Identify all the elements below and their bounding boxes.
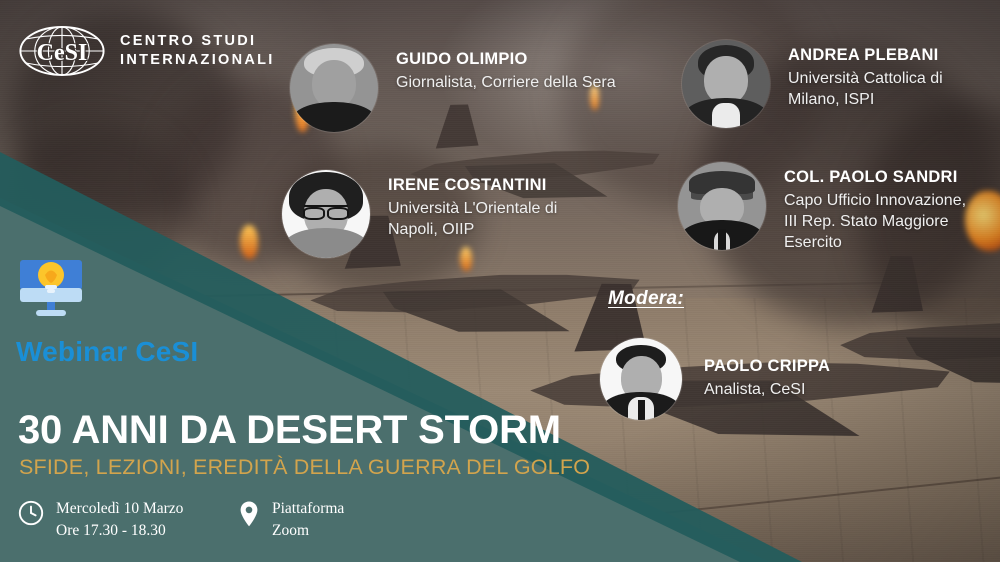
speaker-andrea-plebani: ANDREA PLEBANI Università Cattolica di M…: [682, 40, 943, 128]
speaker-name: COL. PAOLO SANDRI: [784, 168, 966, 187]
cesi-logo-wordmark: CeSI: [37, 40, 88, 66]
speaker-role-line: Università Cattolica di: [788, 69, 943, 90]
moderator-role: Analista, CeSI: [704, 380, 830, 401]
webinar-poster: CeSI CENTRO STUDI INTERNAZIONALI GUIDO O…: [0, 0, 1000, 562]
speaker-photo-guido-olimpio: [290, 44, 378, 132]
speaker-role-line: Esercito: [784, 233, 966, 254]
location-pin-icon: [238, 500, 260, 528]
event-date: Mercoledì 10 Marzo: [56, 498, 183, 520]
event-time: Ore 17.30 - 18.30: [56, 520, 183, 542]
event-platform-name: Zoom: [272, 520, 344, 542]
speaker-role-line: Capo Ufficio Innovazione,: [784, 191, 966, 212]
monitor-lightbulb-icon: [16, 258, 86, 320]
speaker-role: Giornalista, Corriere della Sera: [396, 73, 616, 94]
logo-organisation-name: CENTRO STUDI INTERNAZIONALI: [120, 32, 275, 70]
speaker-name: ANDREA PLEBANI: [788, 46, 943, 65]
event-title: 30 ANNI DA DESERT STORM: [18, 410, 561, 450]
speaker-guido-olimpio: GUIDO OLIMPIO Giornalista, Corriere dell…: [290, 44, 616, 132]
speaker-paolo-sandri: COL. PAOLO SANDRI Capo Ufficio Innovazio…: [678, 162, 966, 253]
speaker-photo-andrea-plebani: [682, 40, 770, 128]
speaker-photo-paolo-sandri: [678, 162, 766, 250]
speaker-role-line: III Rep. Stato Maggiore: [784, 212, 966, 233]
speaker-role-line: Milano, ISPI: [788, 90, 943, 111]
speaker-photo-irene-costantini: [282, 170, 370, 258]
event-place-info: Piattaforma Zoom: [238, 498, 344, 542]
speaker-role: Università L'Orientale di Napoli, OIIP: [388, 199, 557, 241]
cesi-globe-logo-icon: CeSI: [18, 22, 106, 80]
speaker-irene-costantini: IRENE COSTANTINI Università L'Orientale …: [282, 170, 557, 258]
event-subtitle: SFIDE, LEZIONI, EREDITÀ DELLA GUERRA DEL…: [19, 455, 590, 480]
logo-line-1: CENTRO STUDI: [120, 32, 275, 51]
speaker-role-line: Napoli, OIIP: [388, 220, 557, 241]
event-platform-label: Piattaforma: [272, 498, 344, 520]
clock-icon: [18, 500, 44, 526]
fighter-jet: [838, 287, 1000, 389]
moderator-label: Modera:: [608, 288, 684, 310]
moderator-photo-paolo-crippa: [600, 338, 682, 420]
speaker-name: IRENE COSTANTINI: [388, 176, 557, 195]
logo-line-2: INTERNAZIONALI: [120, 51, 275, 70]
moderator-paolo-crippa: PAOLO CRIPPA Analista, CeSI: [600, 338, 830, 420]
speaker-role: Capo Ufficio Innovazione, III Rep. Stato…: [784, 191, 966, 253]
webinar-label: Webinar CeSI: [16, 336, 198, 368]
fire-flame: [240, 225, 258, 259]
event-date-info: Mercoledì 10 Marzo Ore 17.30 - 18.30: [18, 498, 183, 542]
moderator-name: PAOLO CRIPPA: [704, 357, 830, 376]
cesi-logo: CeSI CENTRO STUDI INTERNAZIONALI: [18, 22, 275, 80]
speaker-role-line: Università L'Orientale di: [388, 199, 557, 220]
speaker-role: Università Cattolica di Milano, ISPI: [788, 69, 943, 111]
speaker-name: GUIDO OLIMPIO: [396, 50, 616, 69]
